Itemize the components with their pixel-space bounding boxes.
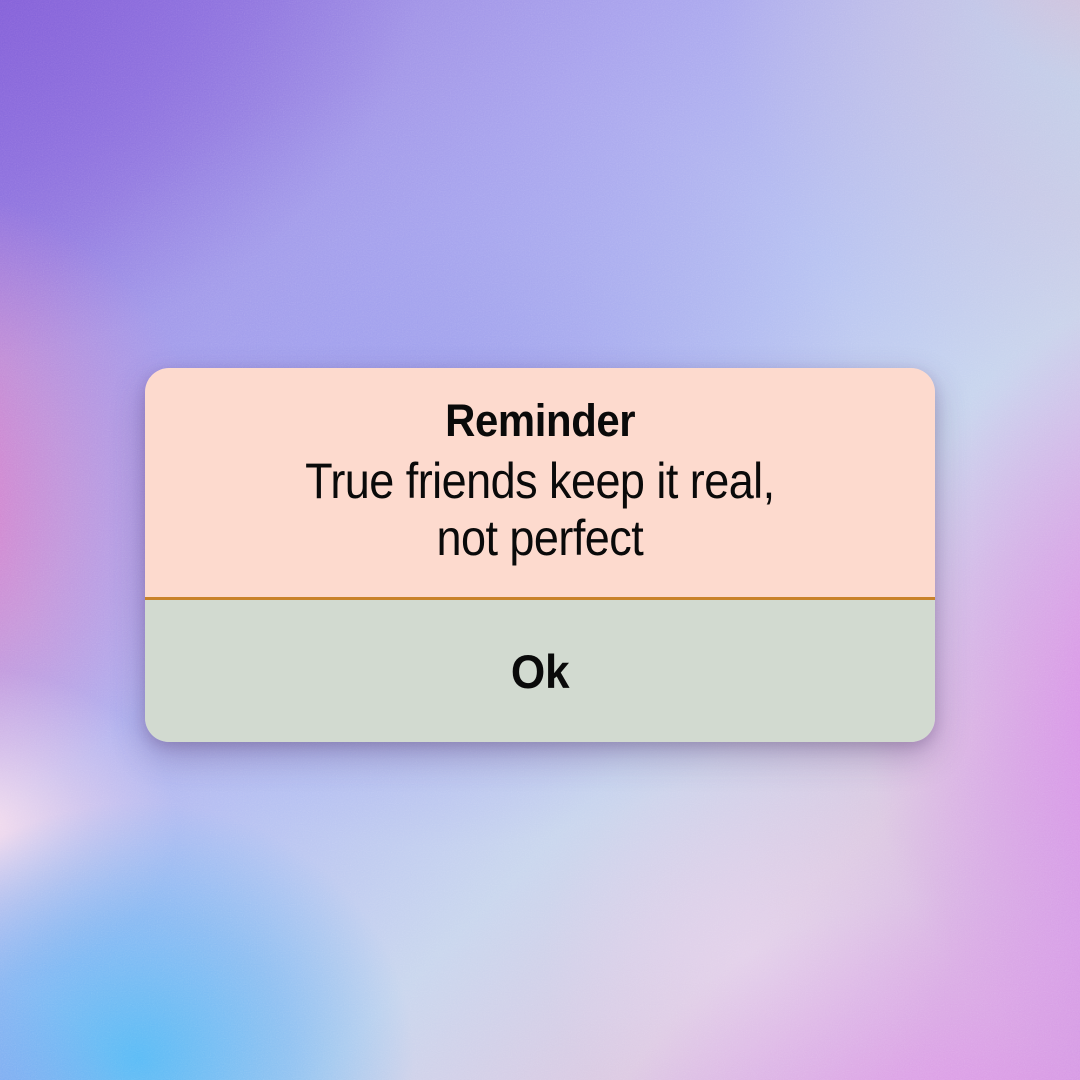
- dialog-title: Reminder: [445, 398, 635, 443]
- ok-button[interactable]: Ok: [145, 600, 935, 742]
- dialog-message: True friends keep it real, not perfect: [305, 453, 775, 567]
- ok-button-label: Ok: [511, 648, 570, 695]
- reminder-dialog: Reminder True friends keep it real, not …: [145, 368, 935, 742]
- dialog-body: Reminder True friends keep it real, not …: [145, 368, 935, 597]
